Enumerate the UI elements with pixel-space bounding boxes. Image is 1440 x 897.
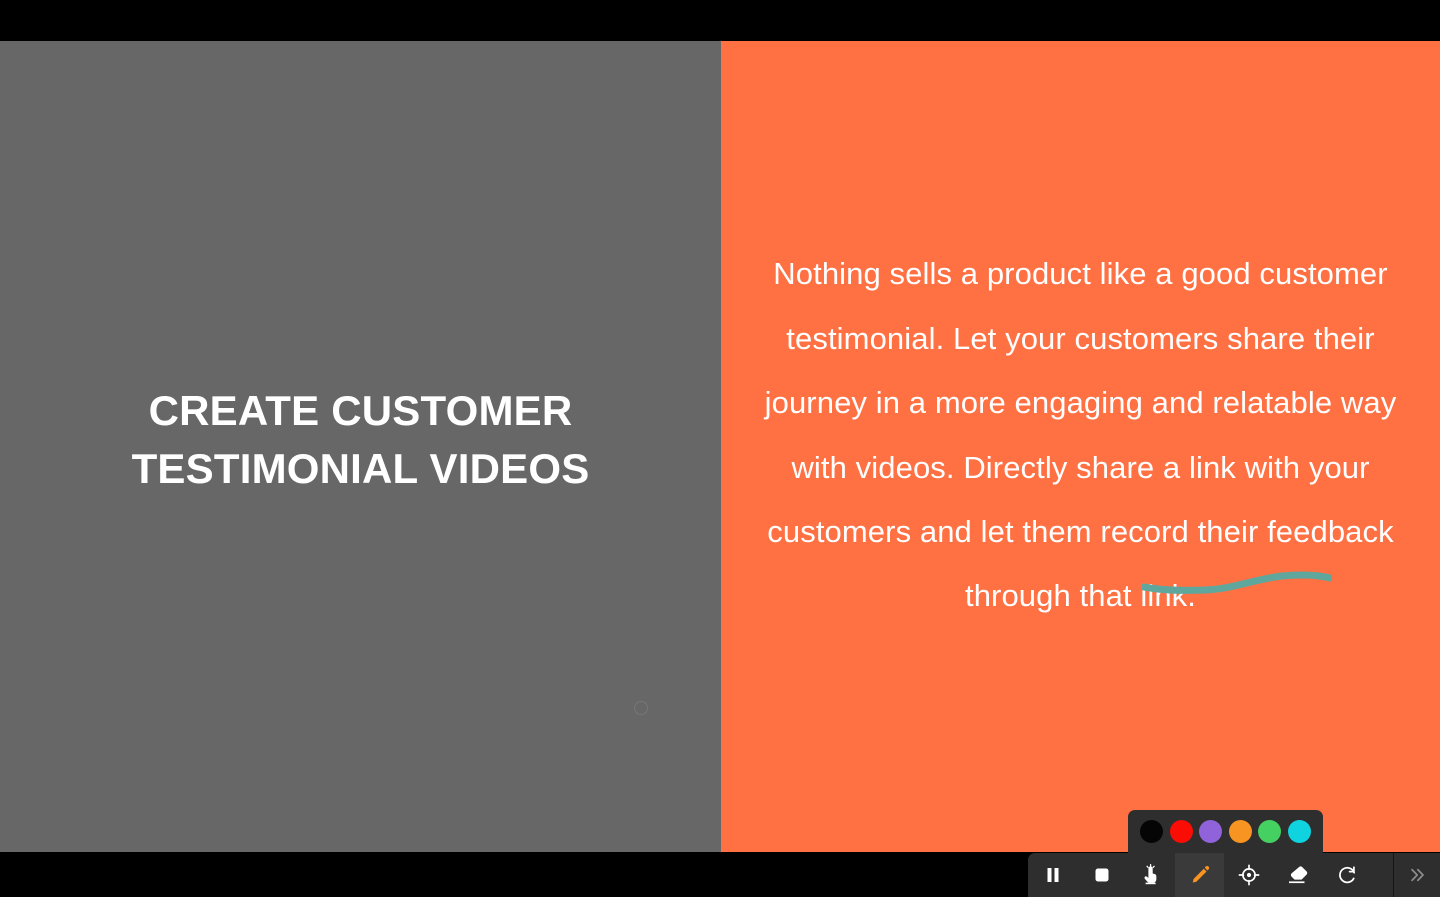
pause-icon <box>1043 865 1063 885</box>
spotlight-button[interactable] <box>1224 853 1273 897</box>
slide-headline: CREATE CUSTOMER TESTIMONIAL VIDEOS <box>61 382 661 498</box>
color-swatch-purple[interactable] <box>1199 820 1222 843</box>
color-swatch-orange[interactable] <box>1229 820 1252 843</box>
pencil-icon <box>1189 864 1211 886</box>
eraser-icon <box>1286 864 1310 886</box>
pen-color-palette[interactable] <box>1128 810 1323 853</box>
eraser-button[interactable] <box>1273 853 1322 897</box>
slide-left-panel: CREATE CUSTOMER TESTIMONIAL VIDEOS <box>0 41 721 852</box>
hand-tap-icon <box>1140 864 1162 886</box>
toolbar-button-group <box>1028 853 1393 897</box>
reset-button[interactable] <box>1322 853 1371 897</box>
pause-button[interactable] <box>1028 853 1077 897</box>
color-swatch-cyan[interactable] <box>1288 820 1311 843</box>
expand-toolbar-button[interactable] <box>1394 853 1440 897</box>
chevron-double-right-icon <box>1406 864 1428 886</box>
redo-icon <box>1336 864 1358 886</box>
color-swatch-red[interactable] <box>1170 820 1193 843</box>
color-swatch-black[interactable] <box>1140 820 1163 843</box>
screen-root: CREATE CUSTOMER TESTIMONIAL VIDEOS Nothi… <box>0 0 1440 897</box>
annotation-toolbar <box>1028 853 1440 897</box>
color-swatch-green[interactable] <box>1258 820 1281 843</box>
stop-icon <box>1092 865 1112 885</box>
cursor-ring-artifact <box>634 701 648 715</box>
stop-button[interactable] <box>1077 853 1126 897</box>
pointer-button[interactable] <box>1126 853 1175 897</box>
slide-right-panel: Nothing sells a product like a good cust… <box>721 41 1440 852</box>
presentation-slide: CREATE CUSTOMER TESTIMONIAL VIDEOS Nothi… <box>0 41 1440 852</box>
crosshair-icon <box>1238 864 1260 886</box>
slide-body-text: Nothing sells a product like a good cust… <box>761 242 1401 629</box>
pen-button[interactable] <box>1175 853 1224 897</box>
